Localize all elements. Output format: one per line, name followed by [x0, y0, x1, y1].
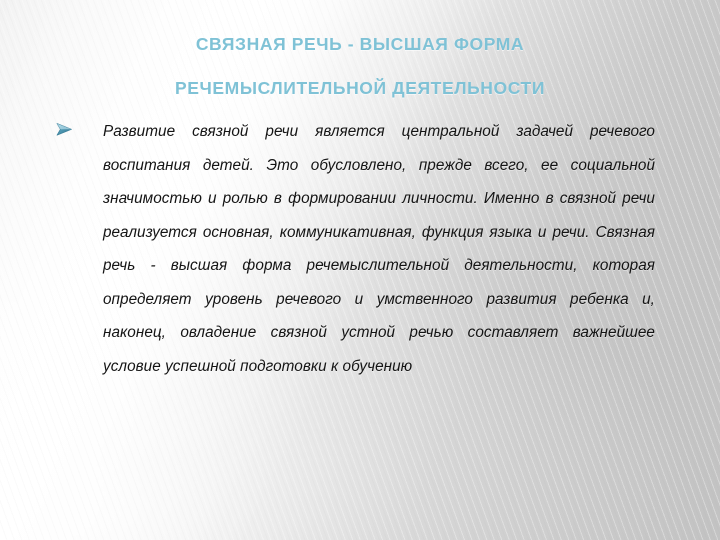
slide-title: СВЯЗНАЯ РЕЧЬ - ВЫСШАЯ ФОРМА РЕЧЕМЫСЛИТЕЛ… [60, 22, 660, 110]
body-paragraph: Развитие связной речи является центральн… [103, 115, 655, 383]
slide-title-line-1: СВЯЗНАЯ РЕЧЬ - ВЫСШАЯ ФОРМА [60, 22, 660, 66]
arrow-bullet-icon [55, 122, 77, 137]
presentation-slide: СВЯЗНАЯ РЕЧЬ - ВЫСШАЯ ФОРМА РЕЧЕМЫСЛИТЕЛ… [0, 0, 720, 540]
slide-title-line-2: РЕЧЕМЫСЛИТЕЛЬНОЙ ДЕЯТЕЛЬНОСТИ [60, 66, 660, 110]
slide-body: Развитие связной речи является центральн… [55, 115, 655, 383]
